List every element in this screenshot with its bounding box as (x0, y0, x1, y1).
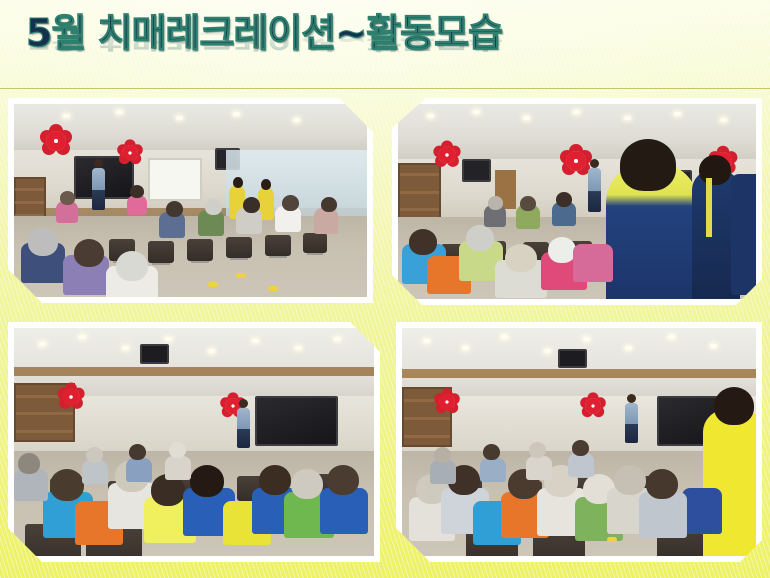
slide: 5월 치매레크레이션~활동모습 5월 치매레크레이션~활동모습 (0, 0, 770, 578)
title-divider (0, 88, 770, 89)
photo-top-right[interactable] (392, 98, 762, 305)
photo-top-left-image (14, 104, 367, 297)
title-band: 5월 치매레크레이션~활동모습 5월 치매레크레이션~활동모습 (0, 0, 770, 88)
photo-bottom-right-image (402, 328, 756, 556)
page-title: 5월 치매레크레이션~활동모습 (26, 9, 502, 57)
photo-bottom-right[interactable] (396, 322, 762, 562)
photo-bottom-left[interactable] (8, 322, 380, 562)
photo-top-left[interactable] (8, 98, 373, 303)
photo-bottom-left-image (14, 328, 374, 556)
photo-top-right-image (398, 104, 756, 299)
